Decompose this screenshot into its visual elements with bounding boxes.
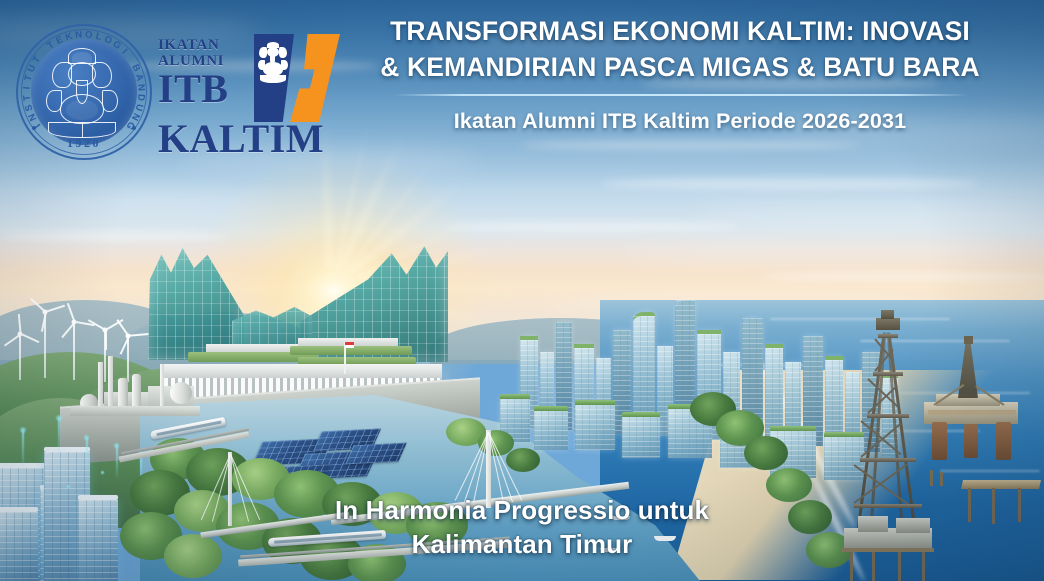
seal-arc-letter: U <box>133 103 146 113</box>
seal-arc-letter: O <box>85 29 94 41</box>
ia-logo-words: IKATAN ALUMNI ITB <box>158 38 254 109</box>
ganesha-icon <box>38 46 130 138</box>
slide-tagline: In Harmonia Progressio untuk Kalimantan … <box>272 494 772 562</box>
seal-arc-letter: U <box>26 63 39 74</box>
seal-dot-left <box>32 126 36 130</box>
tagline-line-2: Kalimantan Timur <box>272 528 772 562</box>
slide-subtitle: Ikatan Alumni ITB Kaltim Periode 2026-20… <box>330 109 1030 134</box>
title-divider <box>393 94 968 96</box>
title-slide: INSTITUT TEKNOLOGI BANDUNG 1920 <box>0 0 1044 581</box>
seal-arc-letter: T <box>21 94 33 101</box>
seal-arc-letter: L <box>94 31 103 43</box>
seal-arc-letter: N <box>75 29 83 41</box>
seal-arc-letter: S <box>23 103 35 113</box>
ia-monogram-ganesha-icon <box>258 42 288 86</box>
seal-arc-letter: D <box>135 93 147 101</box>
offshore-oil-rig <box>916 340 1026 460</box>
seal-arc-letter: I <box>22 86 33 90</box>
slide-title-line-2: & KEMANDIRIAN PASCA MIGAS & BATU BARA <box>330 50 1030 86</box>
ia-logo-kaltim: KALTIM <box>158 120 324 158</box>
tagline-line-1: In Harmonia Progressio untuk <box>335 495 709 525</box>
ia-itb-kaltim-logo: IKATAN ALUMNI ITB <box>158 34 340 156</box>
seal-arc-letter: A <box>133 73 145 83</box>
seal-dot-right <box>132 126 136 130</box>
title-block: TRANSFORMASI EKONOMI KALTIM: INOVASI & K… <box>330 14 1030 134</box>
slide-title-line-1: TRANSFORMASI EKONOMI KALTIM: INOVASI <box>330 14 1030 50</box>
seal-arc-letter: B <box>129 63 142 74</box>
seal-arc-letter: K <box>64 31 74 44</box>
seal-arc-letter: N <box>135 84 147 92</box>
seal-year: 1920 <box>16 136 152 151</box>
seal-arc-letter: T <box>23 73 35 82</box>
slide-header: INSTITUT TEKNOLOGI BANDUNG 1920 <box>0 0 1044 170</box>
itb-seal: INSTITUT TEKNOLOGI BANDUNG 1920 <box>16 24 152 160</box>
onshore-oil-derrick <box>848 318 926 550</box>
ia-monogram <box>254 34 340 122</box>
ia-logo-ikatan: IKATAN <box>158 38 254 53</box>
seal-arc-letter: E <box>54 34 65 47</box>
ia-logo-itb: ITB <box>158 70 254 108</box>
